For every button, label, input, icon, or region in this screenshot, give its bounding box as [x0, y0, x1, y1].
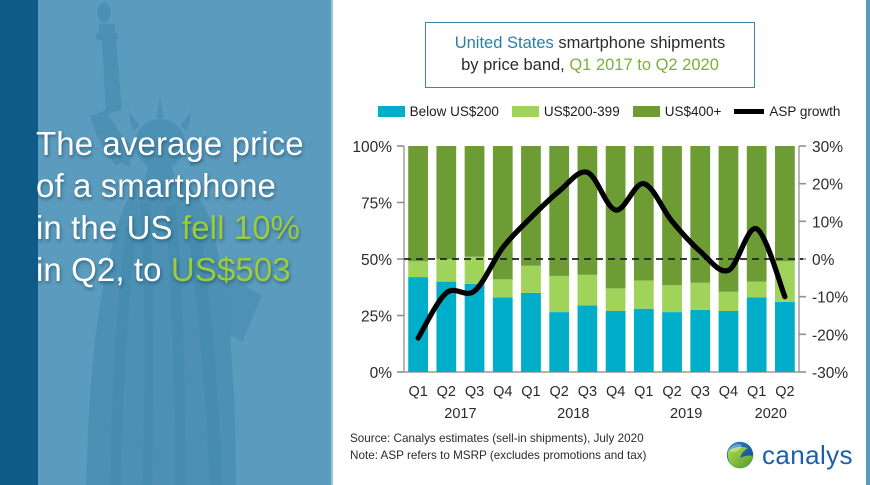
- x-tick-label-year: 2018: [557, 406, 589, 422]
- headline-text-4: in Q2, to: [36, 251, 171, 288]
- x-tick-label-quarter: Q3: [465, 384, 484, 400]
- bar-segment[interactable]: [634, 146, 654, 280]
- y-tick-label-right: -10%: [812, 290, 848, 307]
- chart-footnote: Source: Canalys estimates (sell-in shipm…: [350, 430, 710, 464]
- bar-segment[interactable]: [578, 305, 598, 372]
- y-tick-label-right: 0%: [812, 252, 835, 269]
- bar-segment[interactable]: [465, 146, 485, 257]
- headline-line-2: of a smartphone: [36, 165, 326, 207]
- bar-segment[interactable]: [775, 302, 795, 372]
- y-tick-label-left: 0%: [370, 365, 393, 382]
- x-tick-label-quarter: Q4: [606, 384, 625, 400]
- bar-segment[interactable]: [578, 146, 598, 275]
- bar-segment[interactable]: [521, 266, 541, 293]
- x-tick-label-year: 2017: [444, 406, 476, 422]
- bar-segment[interactable]: [747, 282, 767, 298]
- page-title: The average price of a smartphone in the…: [36, 123, 326, 291]
- headline-text-2: of a smartphone: [36, 167, 276, 204]
- y-tick-label-right: 20%: [812, 177, 843, 194]
- bar-segment[interactable]: [549, 276, 569, 312]
- bar-segment[interactable]: [634, 280, 654, 308]
- bar-segment[interactable]: [634, 309, 654, 372]
- right-edge-strip: [866, 0, 870, 485]
- y-tick-label-right: 10%: [812, 214, 843, 231]
- y-tick-label-left: 75%: [361, 196, 392, 213]
- y-tick-label-right: -20%: [812, 327, 848, 344]
- bar-segment[interactable]: [436, 259, 456, 282]
- x-tick-label-quarter: Q1: [521, 384, 540, 400]
- headline-text-1: The average price: [36, 125, 304, 162]
- bar-segment[interactable]: [690, 146, 710, 283]
- bar-segment[interactable]: [775, 146, 795, 261]
- headline-text-3: in the US: [36, 209, 182, 246]
- x-tick-label-year: 2020: [755, 406, 787, 422]
- bar-segment[interactable]: [493, 297, 513, 372]
- bar-segment[interactable]: [662, 312, 682, 372]
- bar-segment[interactable]: [578, 275, 598, 306]
- headline-accent-1: fell 10%: [182, 209, 300, 246]
- headline-line-3: in the US fell 10%: [36, 207, 326, 249]
- x-tick-label-quarter: Q1: [408, 384, 427, 400]
- bar-segment[interactable]: [549, 312, 569, 372]
- bar-segment[interactable]: [747, 146, 767, 282]
- chart-plot-area: 0%25%50%75%100%-30%-20%-10%0%10%20%30%Q1…: [333, 0, 870, 485]
- bar-segment[interactable]: [719, 292, 739, 311]
- bar-segment[interactable]: [408, 146, 428, 261]
- y-tick-label-left: 50%: [361, 252, 392, 269]
- headline-accent-2: US$503: [171, 251, 291, 288]
- bar-segment[interactable]: [606, 288, 626, 311]
- x-tick-label-quarter: Q4: [719, 384, 738, 400]
- y-tick-label-left: 100%: [352, 139, 392, 156]
- y-tick-label-right: 30%: [812, 139, 843, 156]
- bar-segment[interactable]: [719, 311, 739, 372]
- note-text: Note: ASP refers to MSRP (excludes promo…: [350, 447, 710, 464]
- bar-segment[interactable]: [606, 146, 626, 288]
- headline-line-4: in Q2, to US$503: [36, 249, 326, 291]
- bar-segment[interactable]: [408, 261, 428, 277]
- bar-segment[interactable]: [606, 311, 626, 372]
- x-tick-label-quarter: Q2: [550, 384, 569, 400]
- bar-segment[interactable]: [436, 146, 456, 259]
- x-tick-label-quarter: Q4: [493, 384, 512, 400]
- x-tick-label-quarter: Q3: [691, 384, 710, 400]
- x-tick-label-quarter: Q1: [634, 384, 653, 400]
- globe-icon: [725, 440, 755, 470]
- x-tick-label-quarter: Q3: [578, 384, 597, 400]
- x-tick-label-quarter: Q2: [437, 384, 456, 400]
- y-tick-label-left: 25%: [361, 309, 392, 326]
- bar-segment[interactable]: [690, 310, 710, 372]
- chart-panel: United States smartphone shipments by pr…: [333, 0, 870, 485]
- bar-segment[interactable]: [465, 284, 485, 372]
- source-text: Source: Canalys estimates (sell-in shipm…: [350, 430, 710, 447]
- x-tick-label-quarter: Q2: [775, 384, 794, 400]
- bar-segment[interactable]: [521, 293, 541, 372]
- bar-segment[interactable]: [493, 279, 513, 297]
- infographic-root: The average price of a smartphone in the…: [0, 0, 870, 485]
- bar-segment[interactable]: [521, 146, 541, 266]
- bar-segment[interactable]: [690, 283, 710, 310]
- bar-segment[interactable]: [549, 146, 569, 276]
- x-tick-label-year: 2019: [670, 406, 702, 422]
- bar-segment[interactable]: [662, 285, 682, 312]
- x-tick-label-quarter: Q1: [747, 384, 766, 400]
- headline-line-1: The average price: [36, 123, 326, 165]
- y-tick-label-right: -30%: [812, 365, 848, 382]
- chart-svg: 0%25%50%75%100%-30%-20%-10%0%10%20%30%Q1…: [333, 0, 870, 485]
- bar-segment[interactable]: [747, 297, 767, 372]
- canalys-logo: canalys: [725, 437, 855, 473]
- x-tick-label-quarter: Q2: [662, 384, 681, 400]
- logo-wordmark: canalys: [762, 440, 853, 471]
- headline-panel: The average price of a smartphone in the…: [0, 0, 333, 485]
